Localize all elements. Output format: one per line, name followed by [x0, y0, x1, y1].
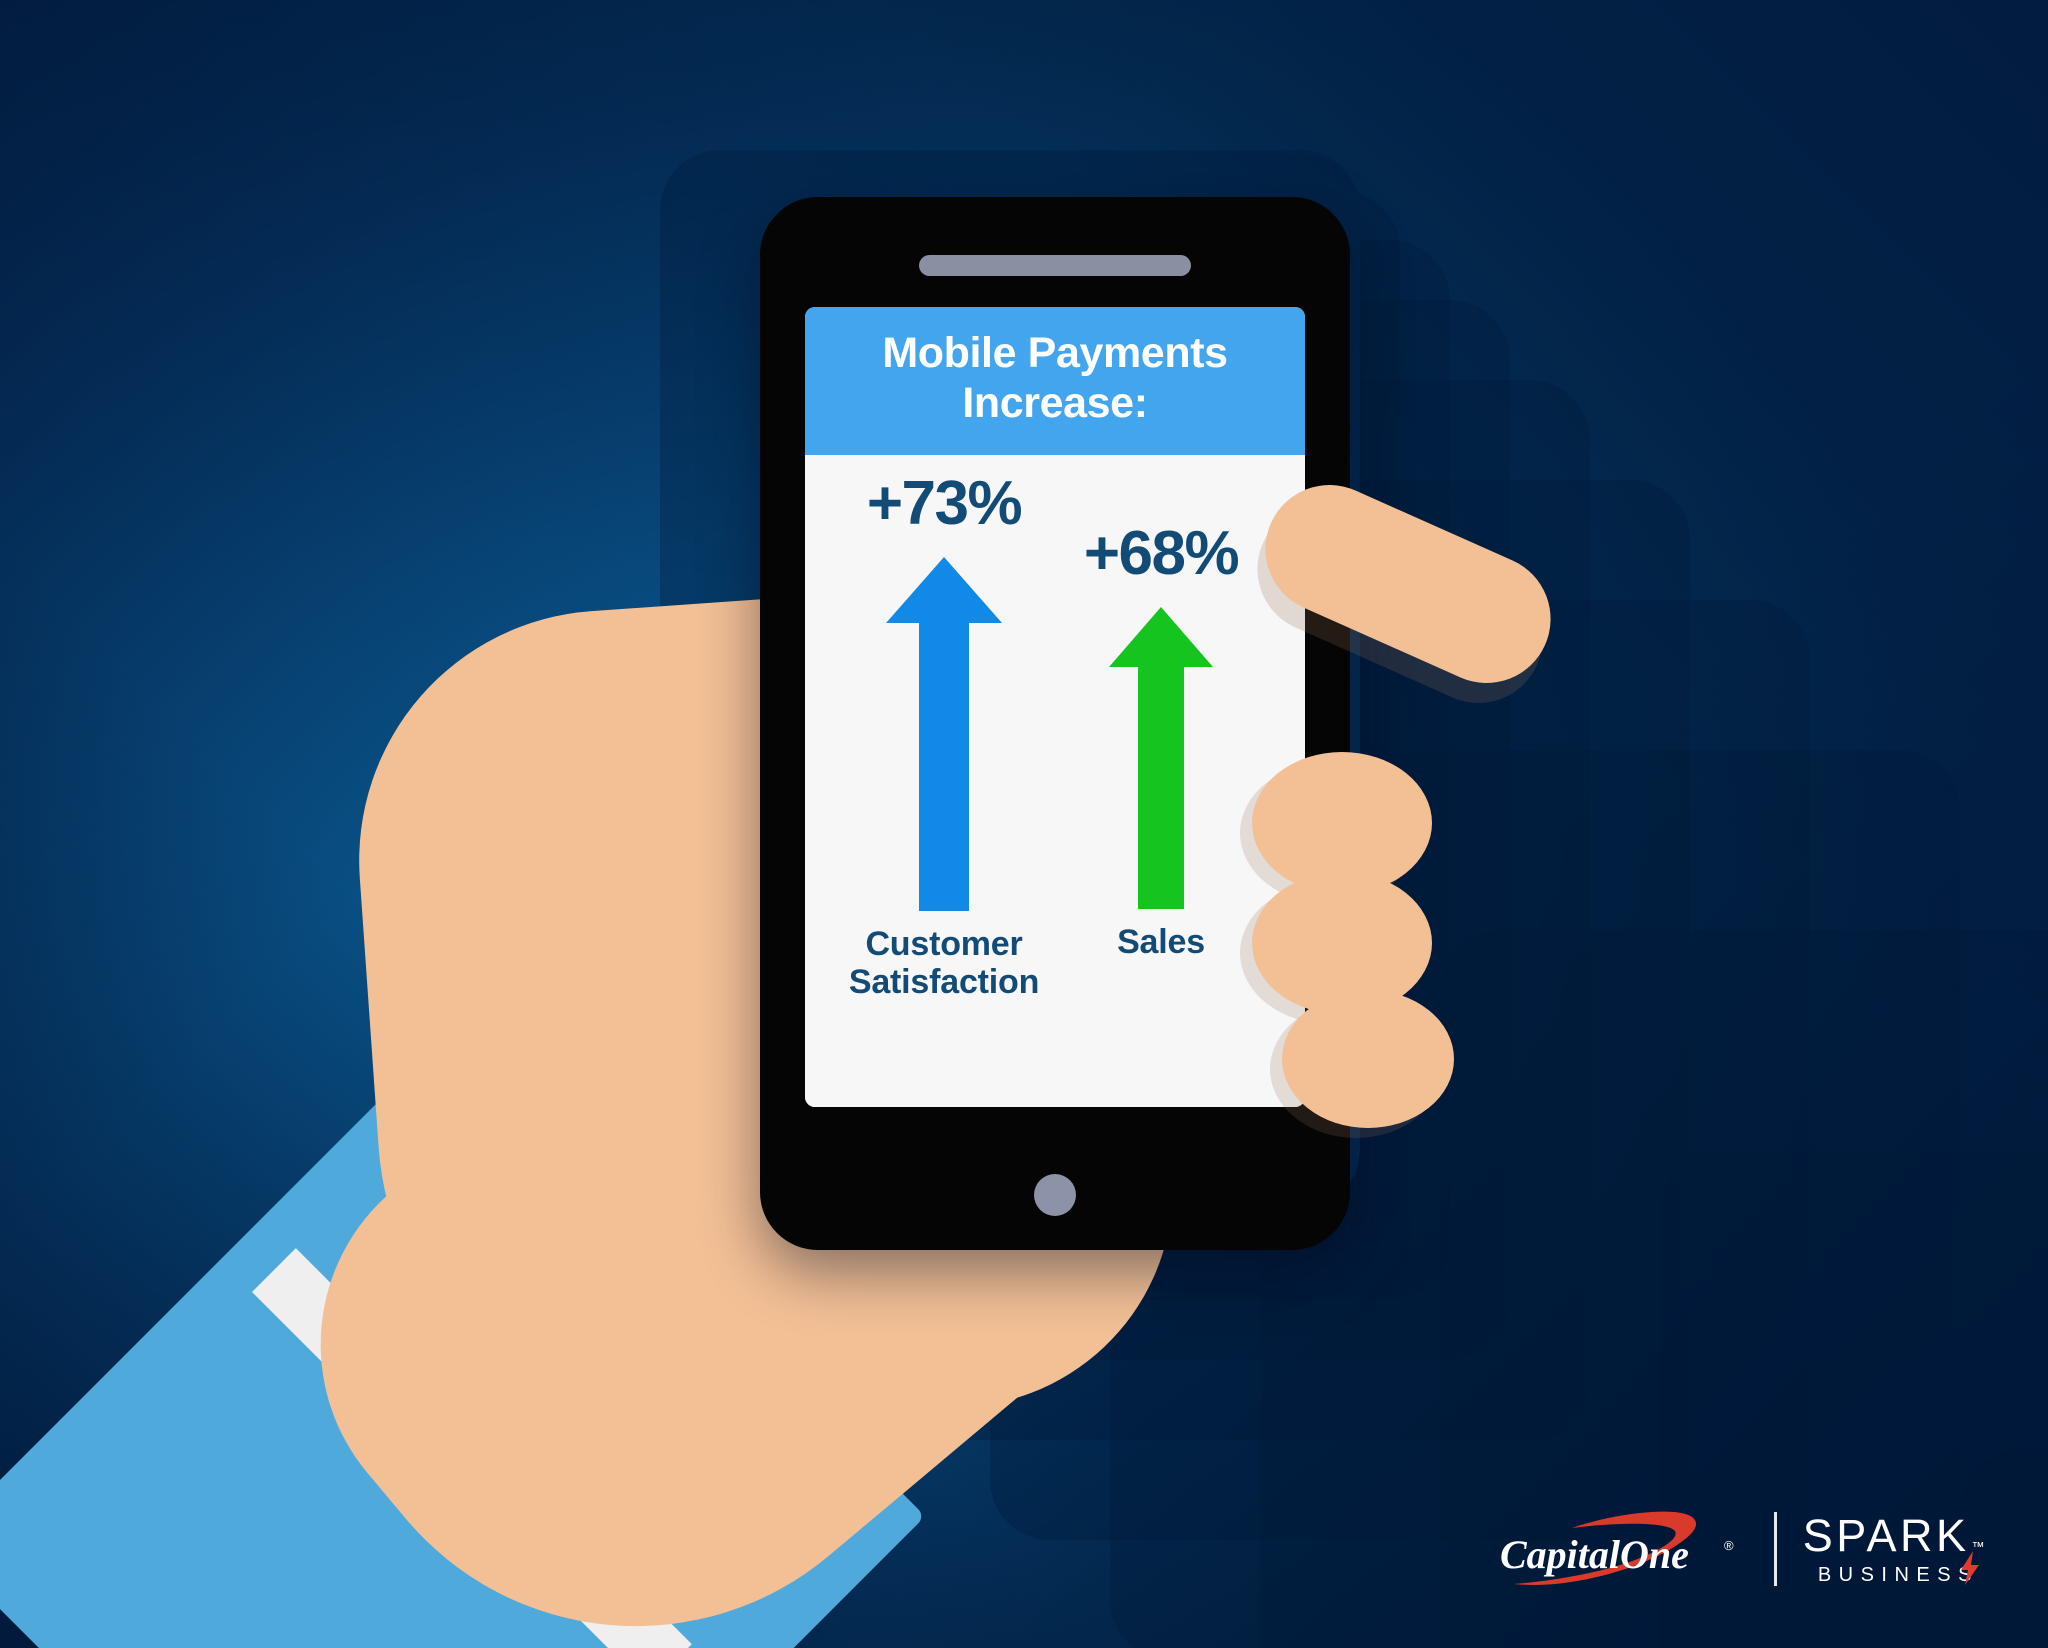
metric-value-sales: +68%	[1084, 523, 1238, 585]
lightning-bolt-icon	[1957, 1551, 1983, 1585]
earpiece-speaker-icon	[919, 255, 1191, 276]
capital-one-logo: CapitalOne ®	[1498, 1506, 1748, 1592]
spark-business-logo: SPARK ™ BUSINESS	[1803, 1513, 1988, 1585]
capital-one-registered: ®	[1724, 1538, 1734, 1553]
spark-letters-sp: SPARK	[1803, 1513, 1970, 1558]
arrow-head	[1109, 607, 1213, 667]
brand-logo-lockup: CapitalOne ® SPARK ™ BUSINESS	[1498, 1506, 1988, 1592]
capital-one-logo-svg: CapitalOne ®	[1498, 1506, 1748, 1592]
arrow-shaft	[1138, 667, 1184, 909]
metric-label-customer-satisfaction: Customer Satisfaction	[829, 925, 1059, 1001]
metric-customer-satisfaction[interactable]: +73% Customer Satisfaction	[829, 473, 1059, 1001]
business-subword: BUSINESS	[1812, 1565, 1979, 1585]
logo-divider	[1774, 1512, 1777, 1586]
app-header-line1: Mobile Payments	[823, 329, 1287, 379]
up-arrow-icon-green	[1109, 607, 1213, 909]
home-button-icon[interactable]	[1034, 1174, 1076, 1216]
up-arrow-icon-blue	[886, 557, 1002, 911]
arrow-shaft	[919, 623, 969, 911]
app-header-line2: Increase:	[823, 379, 1287, 429]
metric-label-sales: Sales	[1117, 923, 1205, 961]
infographic-canvas: Mobile Payments Increase: +73% Customer …	[0, 0, 2048, 1648]
chart-area: +73% Customer Satisfaction +68% Sales	[805, 455, 1305, 1107]
spark-wordmark: SPARK ™	[1803, 1513, 1988, 1558]
phone-screen[interactable]: Mobile Payments Increase: +73% Customer …	[805, 307, 1305, 1107]
arrow-head	[886, 557, 1002, 623]
metric-sales[interactable]: +68% Sales	[1061, 523, 1261, 961]
pinky-finger	[1282, 990, 1454, 1128]
metric-value-customer-satisfaction: +73%	[867, 473, 1021, 535]
app-header: Mobile Payments Increase:	[805, 307, 1305, 455]
capital-one-wordmark: CapitalOne	[1500, 1532, 1689, 1577]
smartphone[interactable]: Mobile Payments Increase: +73% Customer …	[760, 197, 1350, 1250]
